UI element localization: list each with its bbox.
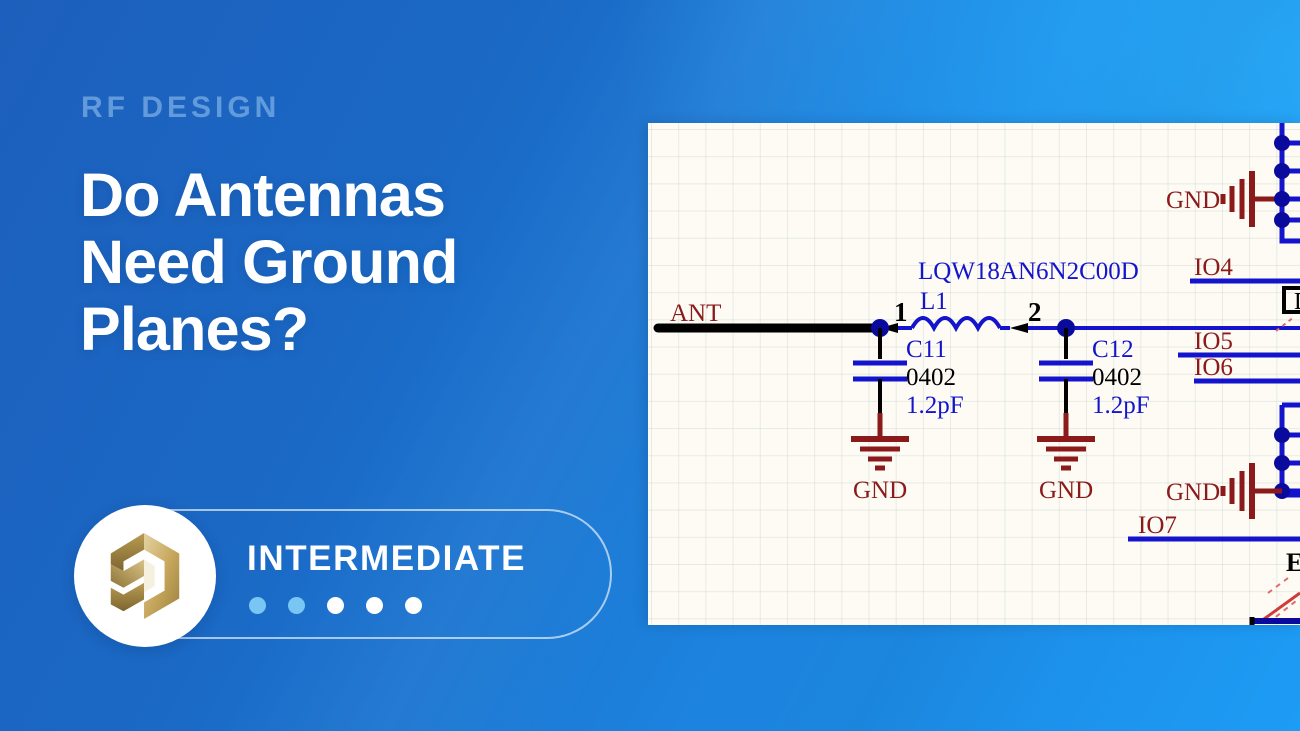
gnd-label-bus-top: GND [1166, 187, 1220, 214]
ground-bus-bottom [1223, 463, 1282, 519]
edge-component-bottom: E [1252, 548, 1300, 625]
junction-pin-t2 [1274, 163, 1290, 179]
schematic-panel: ANT LQW18AN6N2C00D L1 1 2 [648, 123, 1300, 625]
difficulty-dot-5 [405, 597, 422, 614]
inductor-ref-des: L1 [920, 288, 948, 315]
capacitor-c11-symbol [853, 328, 907, 413]
c12-value: 1.2pF [1092, 392, 1150, 419]
edge-component-top: D [1276, 288, 1300, 331]
gnd-label-c12: GND [1039, 477, 1093, 504]
io4-label: IO4 [1194, 254, 1233, 281]
edge-letter-top: D [1294, 289, 1300, 315]
inductor-part-number: LQW18AN6N2C00D [918, 258, 1139, 285]
brand-logo-icon [106, 531, 184, 621]
brand-logo-circle [74, 505, 216, 647]
junction-pin-b2 [1274, 455, 1290, 471]
ground-symbol-c12 [1037, 413, 1095, 468]
io5-label: IO5 [1194, 328, 1233, 355]
edge-letter-bottom: E [1286, 548, 1300, 577]
difficulty-label: INTERMEDIATE [247, 539, 526, 579]
difficulty-dot-1 [249, 597, 266, 614]
inductor-pin-2-label: 2 [1028, 297, 1042, 327]
c11-value: 1.2pF [906, 392, 964, 419]
capacitor-c12-symbol [1039, 328, 1093, 413]
connector-rail-top [1274, 123, 1300, 241]
junction-pin-t3 [1274, 191, 1290, 207]
inductor-l1-symbol [898, 318, 1028, 333]
ground-bus-top [1223, 171, 1282, 227]
ground-symbol-c11 [851, 413, 909, 468]
difficulty-dot-4 [366, 597, 383, 614]
difficulty-badge[interactable]: INTERMEDIATE [77, 509, 612, 639]
inductor-pin-1-label: 1 [894, 297, 908, 327]
difficulty-dot-2 [288, 597, 305, 614]
junction-pin-b1 [1274, 427, 1290, 443]
gnd-label-c11: GND [853, 477, 907, 504]
connector-rail-bottom [1274, 405, 1300, 499]
antenna-net-label: ANT [670, 300, 721, 327]
io7-label: IO7 [1138, 512, 1177, 539]
junction-pin-t4 [1274, 212, 1290, 228]
junction-pin-t1 [1274, 135, 1290, 151]
c11-ref-des: C11 [906, 336, 947, 363]
gnd-label-bus-bottom: GND [1166, 479, 1220, 506]
io6-label: IO6 [1194, 354, 1233, 381]
difficulty-dot-3 [327, 597, 344, 614]
schematic-drawing: ANT LQW18AN6N2C00D L1 1 2 [648, 123, 1300, 625]
page-title: Do Antennas Need Ground Planes? [80, 162, 458, 363]
c11-package: 0402 [906, 364, 956, 391]
c12-ref-des: C12 [1092, 336, 1134, 363]
c12-package: 0402 [1092, 364, 1142, 391]
poster-canvas: RF DESIGN Do Antennas Need Ground Planes… [0, 0, 1300, 731]
difficulty-dots [249, 597, 422, 614]
category-eyebrow: RF DESIGN [81, 93, 280, 123]
